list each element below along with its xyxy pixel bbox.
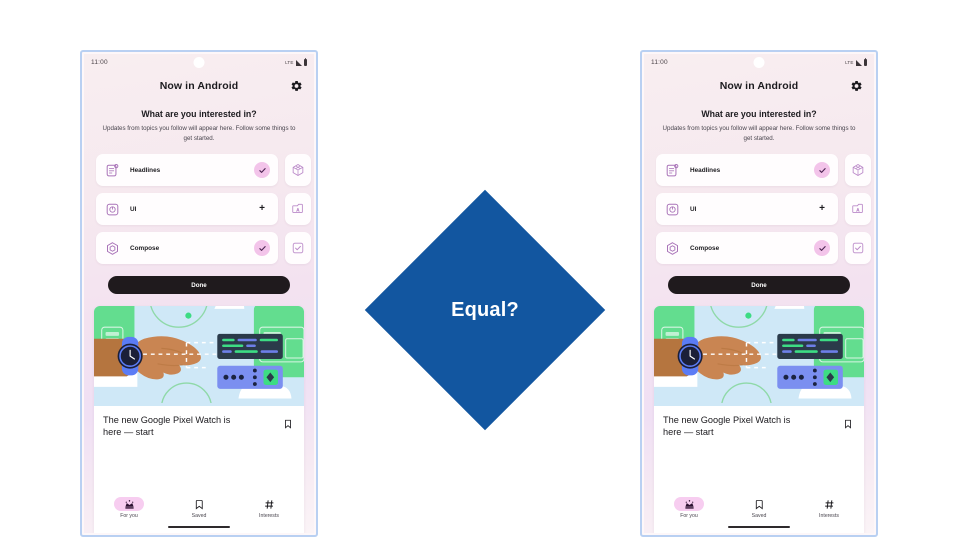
nav-label: Saved	[192, 513, 207, 519]
topic-card-cube[interactable]	[845, 154, 871, 186]
phone-screen: 11:00 LTE Now in Android What are you in…	[84, 54, 314, 533]
bookmark-icon[interactable]	[843, 417, 853, 429]
status-bar: 11:00 LTE	[644, 54, 874, 71]
status-icons: LTE	[845, 59, 867, 66]
app-bar: Now in Android	[84, 71, 314, 101]
topic-card-compose[interactable]: Compose	[656, 232, 838, 264]
topic-row: UI +	[656, 193, 874, 225]
page-title: Now in Android	[720, 80, 799, 92]
nav-item-saved[interactable]: Saved	[724, 497, 794, 519]
topic-card-ui[interactable]: UI +	[96, 193, 278, 225]
accessibility-topic-icon	[850, 201, 867, 218]
network-label: LTE	[845, 60, 853, 65]
topic-card-headlines[interactable]: Headlines	[96, 154, 278, 186]
cube-topic-icon	[850, 162, 867, 179]
cube-topic-icon	[290, 162, 307, 179]
nav-label: Interests	[819, 513, 839, 519]
topic-row: Headlines	[96, 154, 314, 186]
topic-row: Compose	[96, 232, 314, 264]
article-title: The new Google Pixel Watch is here — sta…	[103, 414, 251, 438]
topic-follow-toggle-compose[interactable]	[254, 240, 270, 256]
front-camera-punch-hole	[754, 57, 765, 68]
interests-hash-icon	[254, 497, 284, 511]
check-icon	[814, 162, 830, 178]
done-button[interactable]: Done	[108, 276, 290, 294]
ui-topic-icon	[104, 201, 121, 218]
topic-list: Headlines	[84, 154, 314, 264]
phone-screen: 11:00 LTE Now in Android What are you in…	[644, 54, 874, 533]
nav-item-saved[interactable]: Saved	[164, 497, 234, 519]
topic-follow-toggle-headlines[interactable]	[254, 162, 270, 178]
article-preview[interactable]: The new Google Pixel Watch is here — sta…	[94, 406, 304, 493]
gear-icon[interactable]	[850, 80, 863, 93]
topic-label: Compose	[690, 245, 719, 252]
topic-list: Headlines	[644, 154, 874, 264]
hero-illustration	[654, 306, 864, 406]
onboarding-subtitle: Updates from topics you follow will appe…	[658, 124, 860, 143]
topic-card-accessibility[interactable]	[845, 193, 871, 225]
compose-topic-icon	[664, 240, 681, 257]
onboarding-title: What are you interested in?	[98, 109, 300, 119]
signal-bars-icon	[296, 60, 302, 66]
topic-card-compose[interactable]: Compose	[96, 232, 278, 264]
comparison-stage: 11:00 LTE Now in Android What are you in…	[0, 0, 960, 540]
nav-label: Interests	[259, 513, 279, 519]
onboarding-header: What are you interested in? Updates from…	[84, 101, 314, 143]
for-you-icon	[114, 497, 144, 511]
topic-follow-toggle-headlines[interactable]	[814, 162, 830, 178]
topic-follow-toggle-compose[interactable]	[814, 240, 830, 256]
topic-label: Headlines	[130, 167, 160, 174]
onboarding-subtitle: Updates from topics you follow will appe…	[98, 124, 300, 143]
check-icon	[254, 240, 270, 256]
headlines-topic-icon	[664, 162, 681, 179]
topic-label: UI	[130, 206, 136, 213]
signal-bars-icon	[856, 60, 862, 66]
home-indicator-bar[interactable]	[168, 526, 230, 528]
done-button-wrap: Done	[84, 276, 314, 294]
hero-illustration	[94, 306, 304, 406]
status-clock: 11:00	[91, 59, 108, 66]
topic-label: UI	[690, 206, 696, 213]
front-camera-punch-hole	[194, 57, 205, 68]
topic-follow-toggle-ui[interactable]: +	[254, 201, 270, 217]
article-title: The new Google Pixel Watch is here — sta…	[663, 414, 811, 438]
interests-hash-icon	[814, 497, 844, 511]
testing-topic-icon	[850, 240, 867, 257]
headlines-topic-icon	[104, 162, 121, 179]
app-bar: Now in Android	[644, 71, 874, 101]
saved-bookmark-icon	[184, 497, 214, 511]
status-bar: 11:00 LTE	[84, 54, 314, 71]
battery-icon	[864, 59, 868, 66]
topic-label: Headlines	[690, 167, 720, 174]
home-indicator-bar[interactable]	[728, 526, 790, 528]
topic-row: Headlines	[656, 154, 874, 186]
saved-bookmark-icon	[744, 497, 774, 511]
topic-card-testing[interactable]	[845, 232, 871, 264]
status-clock: 11:00	[651, 59, 668, 66]
check-icon	[254, 162, 270, 178]
page-title: Now in Android	[160, 80, 239, 92]
done-button[interactable]: Done	[668, 276, 850, 294]
topic-row: UI +	[96, 193, 314, 225]
baseline-phone-screenshot: 11:00 LTE Now in Android What are you in…	[80, 50, 318, 537]
nav-item-interests[interactable]: Interests	[234, 497, 304, 519]
battery-icon	[304, 59, 308, 66]
pixel-watch-illustration	[654, 306, 864, 402]
topic-label: Compose	[130, 245, 159, 252]
nav-label: Saved	[752, 513, 767, 519]
topic-card-headlines[interactable]: Headlines	[656, 154, 838, 186]
article-preview[interactable]: The new Google Pixel Watch is here — sta…	[654, 406, 864, 493]
pixel-watch-illustration	[94, 306, 304, 402]
check-icon	[814, 240, 830, 256]
nav-item-for-you[interactable]: For you	[94, 497, 164, 519]
topic-card-testing[interactable]	[285, 232, 311, 264]
status-icons: LTE	[285, 59, 307, 66]
feed-card[interactable]: The new Google Pixel Watch is here — sta…	[654, 306, 864, 533]
gear-icon[interactable]	[290, 80, 303, 93]
topic-card-accessibility[interactable]	[285, 193, 311, 225]
topic-card-cube[interactable]	[285, 154, 311, 186]
ui-topic-icon	[664, 201, 681, 218]
nav-item-for-you[interactable]: For you	[654, 497, 724, 519]
onboarding-title: What are you interested in?	[658, 109, 860, 119]
network-label: LTE	[285, 60, 293, 65]
topic-follow-toggle-ui[interactable]: +	[814, 201, 830, 217]
for-you-icon	[674, 497, 704, 511]
comparison-badge-label: Equal?	[400, 225, 570, 395]
candidate-phone-screenshot: 11:00 LTE Now in Android What are you in…	[640, 50, 878, 537]
bookmark-icon[interactable]	[283, 417, 293, 429]
compose-topic-icon	[104, 240, 121, 257]
feed-card[interactable]: The new Google Pixel Watch is here — sta…	[94, 306, 304, 533]
topic-card-ui[interactable]: UI +	[656, 193, 838, 225]
plus-icon: +	[259, 204, 265, 214]
testing-topic-icon	[290, 240, 307, 257]
nav-item-interests[interactable]: Interests	[794, 497, 864, 519]
nav-label: For you	[120, 513, 138, 519]
accessibility-topic-icon	[290, 201, 307, 218]
topic-row: Compose	[656, 232, 874, 264]
nav-label: For you	[680, 513, 698, 519]
done-button-wrap: Done	[644, 276, 874, 294]
plus-icon: +	[819, 204, 825, 214]
onboarding-header: What are you interested in? Updates from…	[644, 101, 874, 143]
